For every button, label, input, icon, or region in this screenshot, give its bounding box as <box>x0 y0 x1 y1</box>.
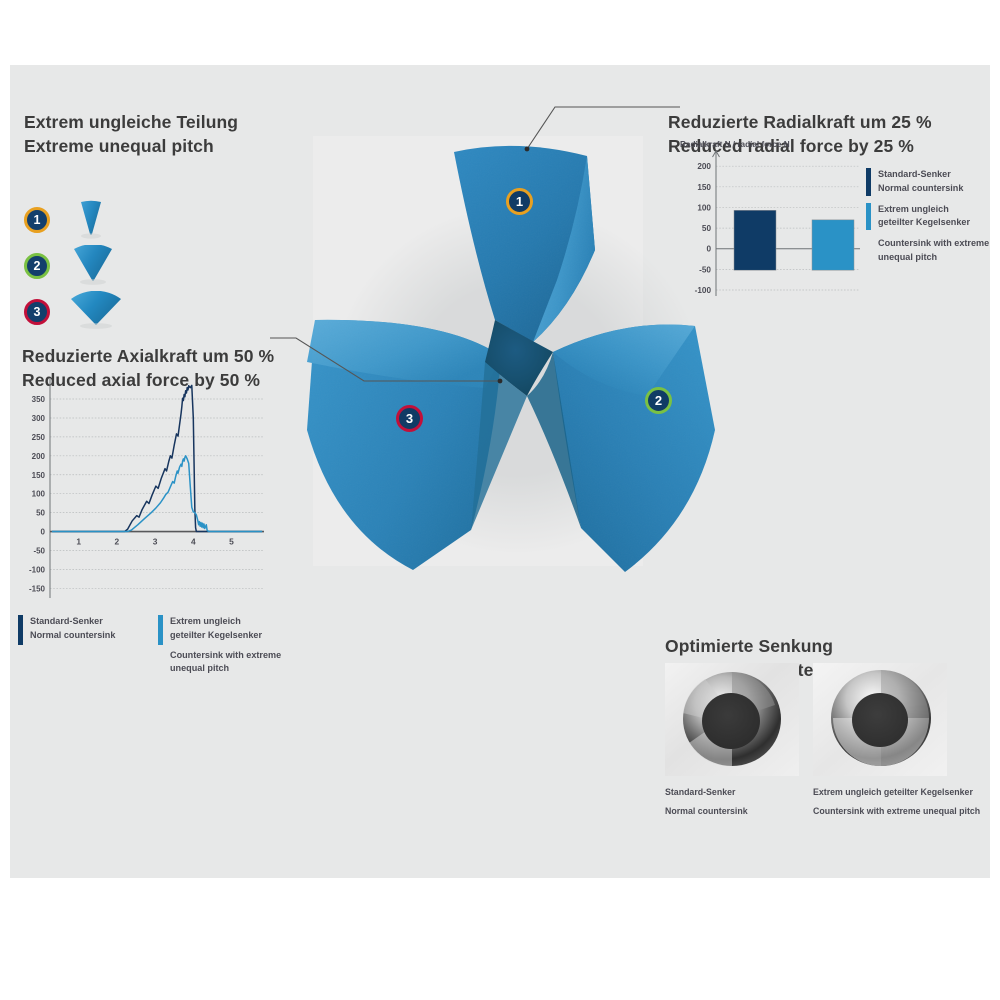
legend-label-de2: geteilter Kegelsenker <box>170 629 318 643</box>
unequal-pitch-heading-de: Extrem ungleiche Teilung <box>24 112 238 132</box>
counterbore-label-b: Extrem ungleich geteilter Kegelsenker Co… <box>813 785 993 819</box>
counterbore-image-pair <box>665 663 995 783</box>
svg-text:1: 1 <box>76 537 81 547</box>
legend-label-en-sub: Countersink with extreme unequal pitch <box>170 649 318 677</box>
svg-text:Radialkraft N / radial force N: Radialkraft N / radial force N <box>680 140 790 149</box>
svg-text:-100: -100 <box>695 286 712 295</box>
radial-force-chart-svg: Radialkraft N / radial force N2001501005… <box>676 138 866 308</box>
svg-text:0: 0 <box>41 528 46 537</box>
narrow-wedge-icon <box>68 200 120 240</box>
svg-text:150: 150 <box>32 471 46 480</box>
unequal-pitch-countersink-bore-photo <box>813 663 947 776</box>
legend-item: Standard-Senker Normal countersink <box>866 168 990 196</box>
legend-label-de2: geteilter Kegelsenker <box>878 216 970 230</box>
legend-swatch-light <box>158 615 163 645</box>
counterbore-heading-de: Optimierte Senkung <box>665 636 833 656</box>
pitch-row: 1 <box>24 197 304 243</box>
svg-text:-50: -50 <box>33 546 45 555</box>
counterbore-label-a: Standard-Senker Normal countersink <box>665 785 805 819</box>
svg-text:-150: -150 <box>29 584 46 593</box>
radial-force-chart: Radialkraft N / radial force N2001501005… <box>676 138 866 308</box>
legend-label-en: Normal countersink <box>878 182 963 196</box>
pitch-cone-cell-1 <box>68 197 158 243</box>
svg-text:150: 150 <box>697 183 711 192</box>
unequal-pitch-heading-en: Extreme unequal pitch <box>24 135 304 158</box>
counterbore-label-a-en: Normal countersink <box>665 804 805 818</box>
tool-badge-1: 1 <box>506 188 533 215</box>
medium-wedge-icon <box>68 245 130 287</box>
svg-text:350: 350 <box>32 395 46 404</box>
axial-force-heading-de: Reduzierte Axialkraft um 50 % <box>22 346 274 366</box>
legend-label-en: Normal countersink <box>30 629 115 643</box>
tool-badge-2: 2 <box>645 387 672 414</box>
pitch-badge-2: 2 <box>24 253 50 279</box>
svg-text:300: 300 <box>32 414 46 423</box>
pitch-cone-cell-2 <box>68 243 158 289</box>
svg-text:3: 3 <box>153 537 158 547</box>
axial-force-chart: 350300250200150100500-50-100-15012345 <box>14 372 269 607</box>
svg-text:50: 50 <box>702 224 712 233</box>
axial-force-legend: Standard-Senker Normal countersink Extre… <box>18 615 318 676</box>
tool-badge-3: 3 <box>396 405 423 432</box>
svg-text:4: 4 <box>191 537 196 547</box>
svg-text:200: 200 <box>697 162 711 171</box>
legend-item: Extrem ungleich geteilter Kegelsenker <box>866 203 990 231</box>
svg-text:-100: -100 <box>29 565 46 574</box>
radial-force-legend: Standard-Senker Normal countersink Extre… <box>866 168 990 265</box>
unequal-pitch-section: Extrem ungleiche Teilung Extreme unequal… <box>24 88 304 335</box>
svg-text:50: 50 <box>36 509 45 518</box>
pitch-row: 2 <box>24 243 304 289</box>
svg-text:100: 100 <box>32 490 46 499</box>
legend-swatch-light <box>866 203 871 231</box>
counterbore-label-b-de: Extrem ungleich geteilter Kegelsenker <box>813 785 993 799</box>
svg-text:250: 250 <box>32 433 46 442</box>
counterbore-label-b-en: Countersink with extreme unequal pitch <box>813 804 993 818</box>
pitch-row-list: 1 2 <box>24 197 304 335</box>
legend-label-en-sub: Countersink with extreme unequal pitch <box>878 237 990 265</box>
radial-force-heading-de: Reduzierte Radialkraft um 25 % <box>668 112 932 132</box>
legend-label-de: Standard-Senker <box>30 615 115 629</box>
legend-label-de: Extrem ungleich <box>170 615 318 629</box>
svg-text:5: 5 <box>229 537 234 547</box>
bore-photo-b-svg <box>813 663 947 776</box>
bore-photo-a-svg <box>665 663 799 776</box>
pitch-badge-1: 1 <box>24 207 50 233</box>
legend-label-de: Standard-Senker <box>878 168 963 182</box>
legend-item: Extrem ungleich geteilter Kegelsenker Co… <box>158 615 318 676</box>
svg-text:200: 200 <box>32 452 46 461</box>
legend-label-de: Extrem ungleich <box>878 203 970 217</box>
axial-force-chart-svg: 350300250200150100500-50-100-15012345 <box>14 372 269 607</box>
legend-swatch-dark <box>866 168 871 196</box>
svg-text:2: 2 <box>115 537 120 547</box>
legend-swatch-dark <box>18 615 23 645</box>
legend-item: Standard-Senker Normal countersink <box>18 615 158 676</box>
svg-text:-50: -50 <box>699 265 711 274</box>
svg-text:0: 0 <box>706 245 711 254</box>
standard-countersink-bore-photo <box>665 663 799 776</box>
counterbore-label-a-de: Standard-Senker <box>665 785 805 799</box>
svg-text:100: 100 <box>697 203 711 212</box>
unequal-pitch-heading: Extrem ungleiche Teilung Extreme unequal… <box>24 88 304 181</box>
